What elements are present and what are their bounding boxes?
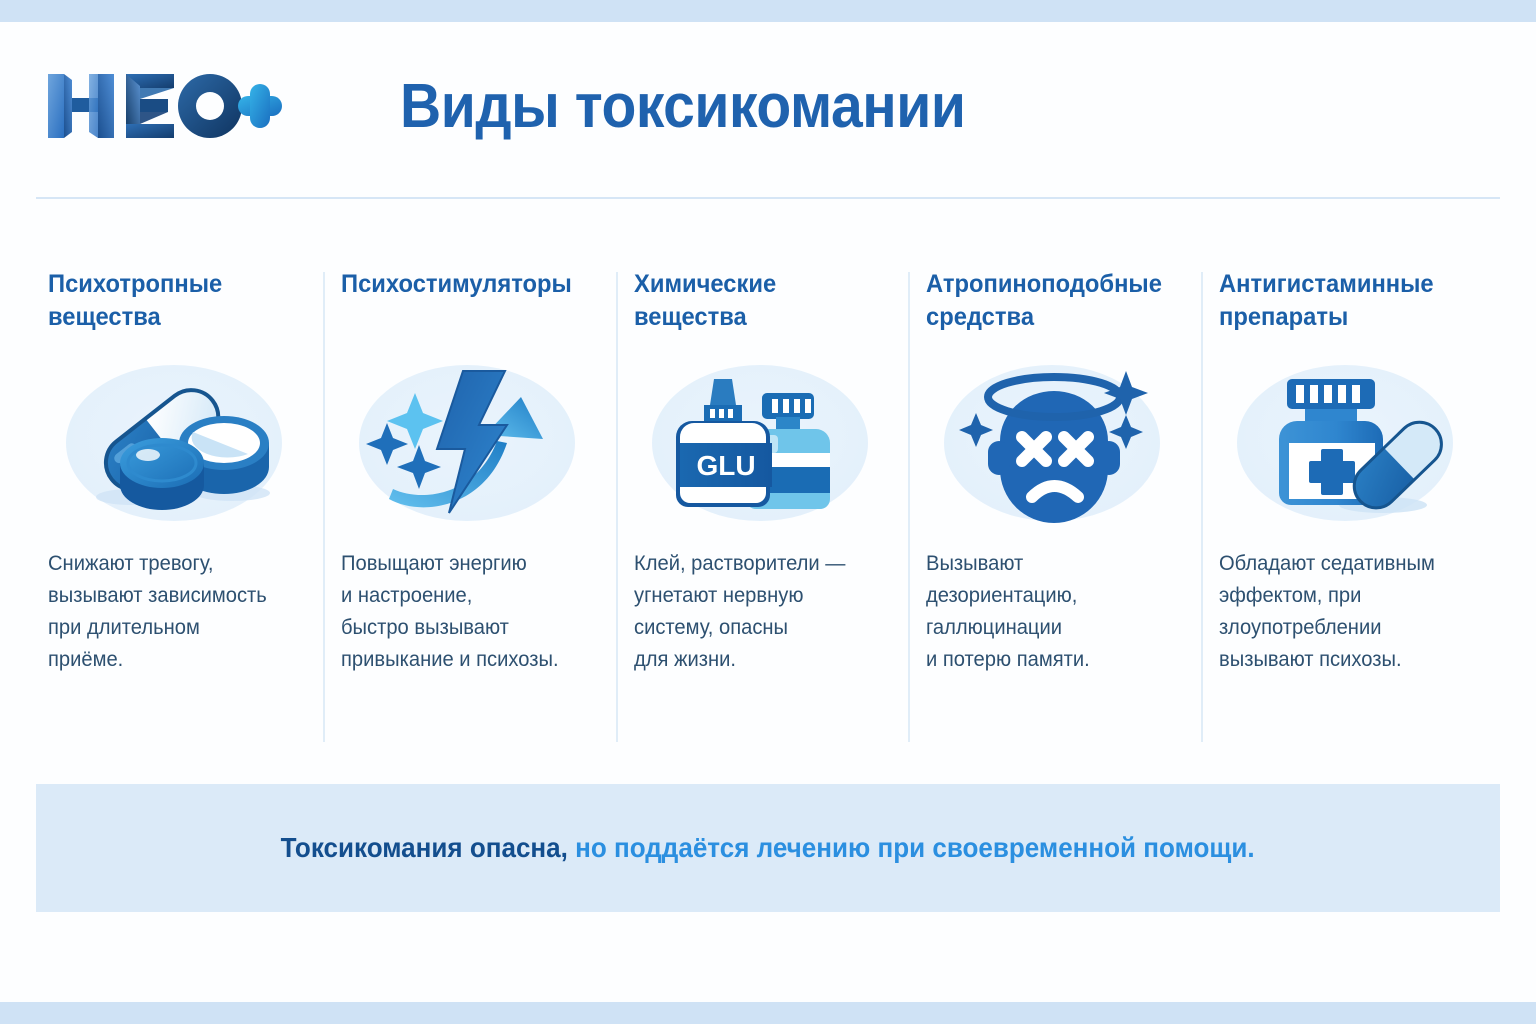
bottom-banner: Токсикомания опасна, но поддаётся лечени… (36, 784, 1500, 912)
glue-label: GLU (696, 450, 755, 481)
column-body: Клей, растворители — угнетают нервную си… (634, 548, 886, 676)
column-body: Повыщают энергию и настроение, быстро вы… (341, 548, 593, 676)
pills-capsule-tablets-icon (48, 354, 311, 532)
column-atropine-like: Атропиноподобные средства (914, 268, 1207, 746)
column-body: Обладают седативным эффектом, при злоупо… (1219, 548, 1471, 676)
logo-neo-plus[interactable] (42, 63, 342, 149)
column-title: Психотропные вещества (48, 268, 298, 336)
column-psychotropic: Психотропные вещества (36, 268, 329, 746)
column-chemical: Химические вещества (622, 268, 915, 746)
column-title: Психостимуляторы (341, 268, 591, 336)
column-title: Химические вещества (634, 268, 884, 336)
banner-strong-text: Токсикомания опасна, (281, 832, 568, 863)
column-body: Вызывают дезориентацию, галлюцинации и п… (926, 548, 1178, 676)
lightning-bolt-sparkles-arrow-icon (341, 354, 604, 532)
page-title: Виды токсикомании (400, 71, 965, 142)
top-accent-band (0, 0, 1536, 22)
category-columns: Психотропные вещества (36, 268, 1500, 746)
medicine-bottle-capsule-icon (1219, 354, 1482, 532)
column-psychostimulants: Психостимуляторы (329, 268, 622, 746)
column-title: Атропиноподобные средства (926, 268, 1176, 336)
column-title: Антигистаминные препараты (1219, 268, 1469, 336)
logo-icon (42, 66, 282, 146)
banner-text: Токсикомания опасна, но поддаётся лечени… (281, 832, 1255, 864)
dizzy-face-icon (926, 354, 1189, 532)
bottom-accent-band (0, 1002, 1536, 1024)
banner-light-text: но поддаётся лечению при своевременной п… (568, 832, 1255, 863)
column-antihistamine: Антигистаминные препараты (1207, 268, 1500, 746)
infographic-canvas: Виды токсикомании Психотропные вещества (0, 0, 1536, 1024)
glue-solvent-bottles-icon: GLU (634, 354, 897, 532)
column-body: Снижают тревогу, вызывают зависимость пр… (48, 548, 300, 676)
header-divider (36, 197, 1500, 199)
header: Виды токсикомании (0, 22, 1536, 190)
